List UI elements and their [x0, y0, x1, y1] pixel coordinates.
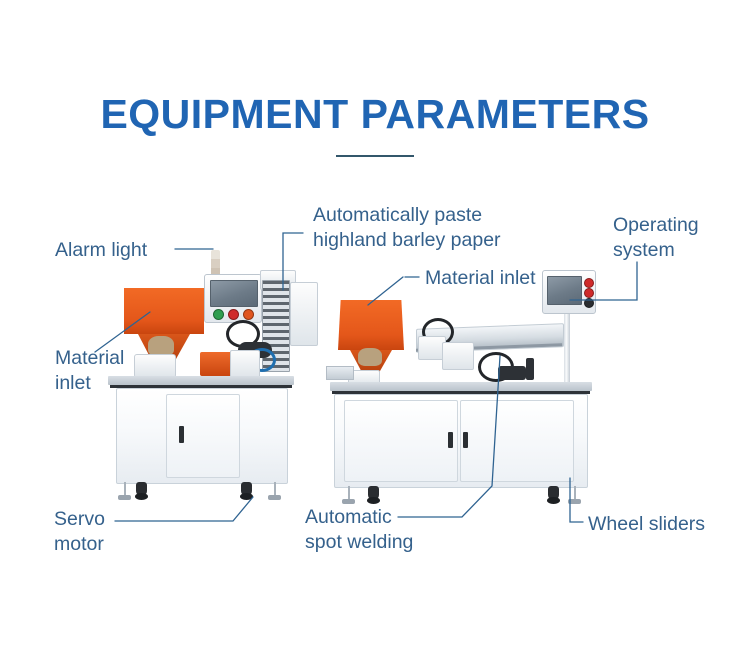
infeed-belt-right: [326, 366, 354, 380]
callout-wheel-sliders: Wheel sliders: [588, 512, 705, 537]
hmi-screen-left[interactable]: [210, 280, 258, 307]
caster-right-2: [548, 486, 559, 500]
machine-right-unit: [330, 262, 615, 506]
callout-servo-motor: Servo motor: [54, 507, 105, 557]
callout-alarm-light: Alarm light: [55, 238, 147, 263]
cabinet-door-left[interactable]: [166, 394, 240, 478]
caster-left-1: [136, 482, 147, 496]
cabinet-handle-right-2[interactable]: [463, 432, 468, 448]
cabinet-door-right-2[interactable]: [460, 400, 574, 482]
callout-material-inlet-left: Material inlet: [55, 346, 124, 396]
alarm-button-right[interactable]: [584, 288, 594, 298]
leveling-foot-right-2: [568, 486, 581, 504]
control-box-left: [230, 350, 260, 378]
reset-button-left[interactable]: [243, 309, 254, 320]
page-title: EQUIPMENT PARAMETERS: [0, 90, 750, 138]
hopper-right: [338, 300, 404, 350]
transfer-module-right: [442, 342, 474, 370]
leveling-foot-left-2: [268, 482, 281, 500]
emergency-stop-right[interactable]: [584, 278, 594, 288]
callout-operating-system: Operating system: [613, 213, 699, 263]
hopper-right-material: [358, 348, 382, 366]
cabinet-handle-left[interactable]: [179, 426, 184, 443]
bench-top-right: [330, 382, 592, 391]
leveling-foot-right-1: [342, 486, 355, 504]
control-panel-right[interactable]: [542, 270, 596, 314]
spot-welding-head-right: [498, 366, 526, 380]
cabinet-door-right-1[interactable]: [344, 400, 458, 482]
hmi-screen-right[interactable]: [547, 276, 582, 305]
title-divider: [336, 155, 414, 157]
hopper-left: [124, 288, 204, 334]
bench-top-left: [108, 376, 294, 385]
selector-knob-right[interactable]: [584, 298, 594, 308]
clamp-arm-right: [526, 358, 534, 380]
callout-automatic-spot-welding: Automatic spot welding: [305, 505, 413, 555]
caster-right-1: [368, 486, 379, 500]
equipment-parameters-page: EQUIPMENT PARAMETERS: [0, 0, 750, 650]
panel-post-right: [564, 312, 570, 384]
white-module-left: [134, 354, 176, 378]
machine-left-unit: [108, 258, 328, 506]
control-panel-left[interactable]: [204, 274, 262, 323]
caster-left-2: [241, 482, 252, 496]
start-button-left[interactable]: [213, 309, 224, 320]
hopper-left-material: [148, 336, 174, 356]
side-chute-left: [290, 282, 318, 346]
cabinet-handle-right-1[interactable]: [448, 432, 453, 448]
callout-automatic-paste: Automatically paste highland barley pape…: [313, 203, 501, 253]
callout-material-inlet-right: Material inlet: [425, 266, 536, 291]
stop-button-left[interactable]: [228, 309, 239, 320]
leveling-foot-left-1: [118, 482, 131, 500]
